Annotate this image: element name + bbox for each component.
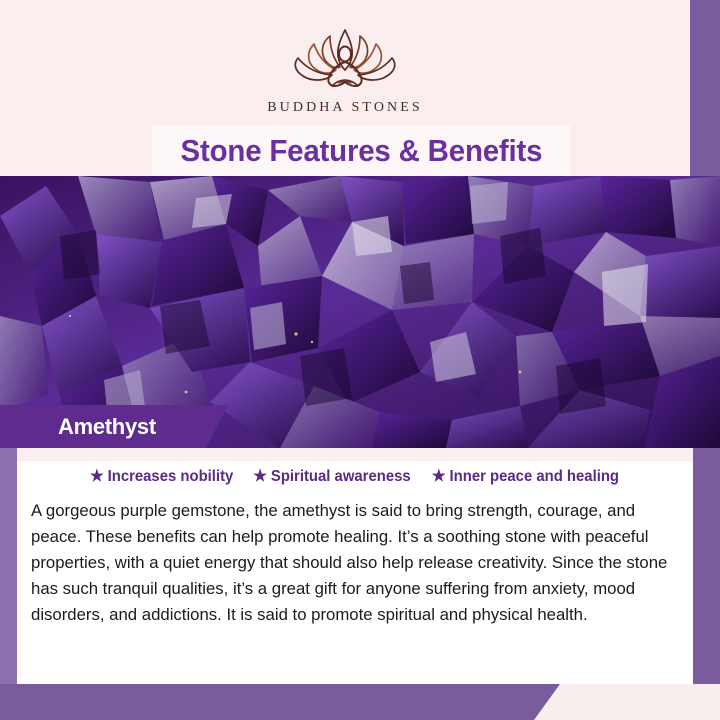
feature-label: Inner peace and healing	[450, 468, 620, 486]
feature-item-1: ★ Spiritual awareness	[253, 468, 410, 486]
stone-description: A gorgeous purple gemstone, the amethyst…	[31, 498, 669, 628]
header: BUDDHA STONES Stone Features & Benefits	[0, 0, 690, 176]
lotus-meditation-icon	[270, 24, 420, 96]
stone-name-band: Amethyst	[0, 405, 228, 448]
brand-logo: BUDDHA STONES	[0, 24, 690, 116]
star-icon: ★	[432, 469, 446, 485]
poster-canvas: BUDDHA STONES Stone Features & Benefits	[0, 0, 720, 720]
stone-name: Amethyst	[58, 414, 156, 440]
panel-top-tint	[17, 448, 693, 461]
brand-name: BUDDHA STONES	[267, 100, 423, 116]
title-banner: Stone Features & Benefits	[152, 125, 570, 176]
feature-label: Spiritual awareness	[271, 468, 411, 486]
feature-item-2: ★ Inner peace and healing	[432, 468, 619, 486]
feature-item-0: ★ Increases nobility	[90, 468, 233, 486]
feature-label: Increases nobility	[108, 468, 234, 486]
star-icon: ★	[90, 469, 104, 485]
feature-list: ★ Increases nobility ★ Spiritual awarene…	[17, 468, 693, 486]
content-panel: ★ Increases nobility ★ Spiritual awarene…	[17, 448, 693, 684]
page-title: Stone Features & Benefits	[180, 133, 542, 169]
star-icon: ★	[253, 469, 267, 485]
frame-bottom-bar	[0, 684, 560, 720]
